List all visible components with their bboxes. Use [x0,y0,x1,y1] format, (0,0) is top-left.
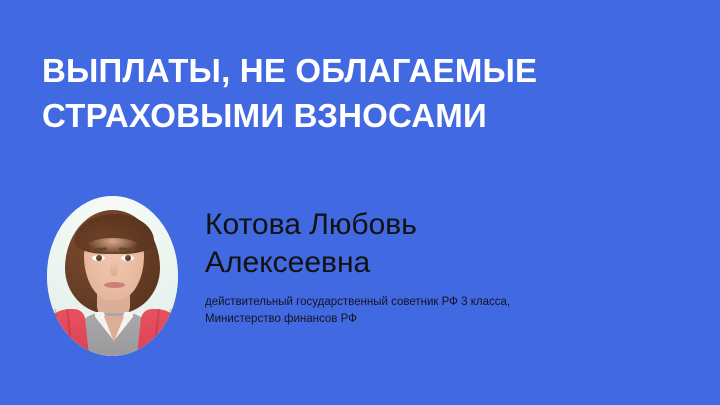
title-line-2: СТРАХОВЫМИ ВЗНОСАМИ [42,93,642,138]
iris-right [125,255,131,261]
portrait-photo-icon [47,196,178,356]
cardigan-fold [164,309,172,356]
speaker-role-line-2: Министерство финансов РФ [205,311,665,328]
iris-left [96,255,102,261]
presentation-slide: ВЫПЛАТЫ, НЕ ОБЛАГАЕМЫЕ СТРАХОВЫМИ ВЗНОСА… [0,0,720,405]
cardigan-right [136,309,178,356]
speaker-name-line-1: Котова Любовь [205,206,665,244]
speaker-role-line-1: действительный государственный советник … [205,294,665,311]
speaker-text: Котова Любовь Алексеевна действительный … [205,206,665,328]
cardigan-fold [54,309,62,356]
title-line-1: ВЫПЛАТЫ, НЕ ОБЛАГАЕМЫЕ [42,48,642,93]
speaker-role: действительный государственный советник … [205,294,665,328]
nose-shape [110,262,118,276]
speaker-block: Котова Любовь Алексеевна действительный … [47,196,667,361]
eye-right [121,254,134,261]
speaker-name: Котова Любовь Алексеевна [205,206,665,282]
cardigan-fold [66,309,74,356]
avatar [47,196,178,356]
cardigan-left [47,309,90,356]
eye-left [92,254,105,261]
page-title: ВЫПЛАТЫ, НЕ ОБЛАГАЕМЫЕ СТРАХОВЫМИ ВЗНОСА… [42,48,642,138]
cardigan-fold [152,309,160,356]
speaker-name-line-2: Алексеевна [205,244,665,282]
mouth-shape [104,282,125,288]
